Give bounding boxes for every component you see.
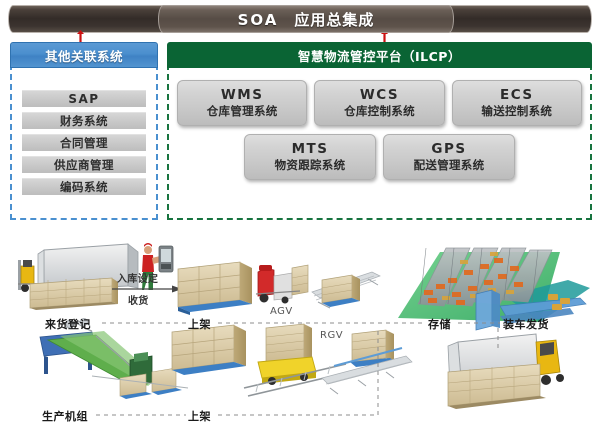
pallet-stack: [448, 364, 546, 409]
module-name: 仓库控制系统: [344, 104, 415, 120]
module-name: 输送控制系统: [481, 104, 552, 120]
left-panel-title: 其他关联系统: [10, 42, 158, 68]
module-code: GPS: [431, 141, 466, 158]
soa-acronym: SOA: [238, 11, 279, 29]
flow-label-production-line: 生产机组: [42, 408, 88, 424]
module-name: 仓库管理系统: [207, 104, 278, 120]
module-code: ECS: [500, 87, 534, 104]
list-item[interactable]: 合同管理: [22, 134, 146, 151]
ilcp-platform-panel: 智慧物流管控平台（ILCP） WMS 仓库管理系统 WCS 仓库控制系统 ECS…: [167, 42, 592, 220]
pipe-segment-right: [446, 5, 592, 33]
diagram-root: SOA应用总集成 其他关联系统 SAP 财务系统 合同管理 供应商管理 编码系统…: [0, 0, 600, 433]
list-item[interactable]: SAP: [22, 90, 146, 107]
pallet-at-rack: [322, 275, 360, 307]
soa-integration-bar: SOA应用总集成: [8, 5, 592, 33]
right-panel-title: 智慧物流管控平台（ILCP）: [167, 42, 592, 68]
inline-label-agv: AGV: [270, 306, 293, 317]
module-card-ecs[interactable]: ECS 输送控制系统: [452, 80, 582, 126]
module-card-wcs[interactable]: WCS 仓库控制系统: [314, 80, 444, 126]
pipe-segment-left: [8, 5, 166, 33]
module-grid: WMS 仓库管理系统 WCS 仓库控制系统 ECS 输送控制系统 MTS 物资跟…: [177, 80, 582, 180]
module-row-2: MTS 物资跟踪系统 GPS 配送管理系统: [177, 134, 582, 180]
agv-vehicle-icon: [256, 265, 308, 304]
flow-label-storage: 存储: [428, 316, 451, 332]
automated-warehouse-storage: [398, 248, 590, 330]
flow-label-putaway-bottom: 上架: [188, 408, 211, 424]
module-code: WMS: [221, 87, 264, 104]
module-card-gps[interactable]: GPS 配送管理系统: [383, 134, 515, 180]
flow-label-inbound-registration: 来货登记: [45, 316, 91, 332]
legacy-systems-list: SAP 财务系统 合同管理 供应商管理 编码系统: [22, 90, 146, 200]
module-code: MTS: [292, 141, 329, 158]
module-name: 配送管理系统: [414, 158, 485, 174]
module-name: 物资跟踪系统: [275, 158, 346, 174]
list-item[interactable]: 编码系统: [22, 178, 146, 195]
soa-title: SOA应用总集成: [238, 9, 375, 30]
scene-shipping-truck: [448, 334, 564, 409]
inline-label-rgv: RGV: [320, 330, 343, 341]
pallet-boxes-bottom: [172, 325, 246, 375]
module-card-mts[interactable]: MTS 物资跟踪系统: [244, 134, 376, 180]
inline-label-inbound-setup: 入库设定: [117, 270, 158, 285]
pallet-boxes-top: [178, 262, 252, 315]
flow-label-putaway-top: 上架: [188, 316, 211, 332]
pipe-segment-center: SOA应用总集成: [158, 5, 454, 33]
module-code: WCS: [360, 87, 399, 104]
list-item[interactable]: 供应商管理: [22, 156, 146, 173]
module-card-wms[interactable]: WMS 仓库管理系统: [177, 80, 307, 126]
logistics-flow-illustration: 来货登记 上架 存储 装车发货 生产机组 上架 入库设定 收货 AGV RGV: [0, 232, 600, 433]
list-item[interactable]: 财务系统: [22, 112, 146, 129]
soa-chinese-label: 应用总集成: [294, 11, 374, 29]
module-row-1: WMS 仓库管理系统 WCS 仓库控制系统 ECS 输送控制系统: [177, 80, 582, 126]
flow-label-loading-shipping: 装车发货: [503, 316, 549, 332]
illustration-canvas: [0, 232, 600, 433]
pallet-stack: [30, 278, 118, 310]
other-related-systems-panel: 其他关联系统 SAP 财务系统 合同管理 供应商管理 编码系统: [10, 42, 158, 220]
inline-label-receiving: 收货: [128, 292, 149, 307]
